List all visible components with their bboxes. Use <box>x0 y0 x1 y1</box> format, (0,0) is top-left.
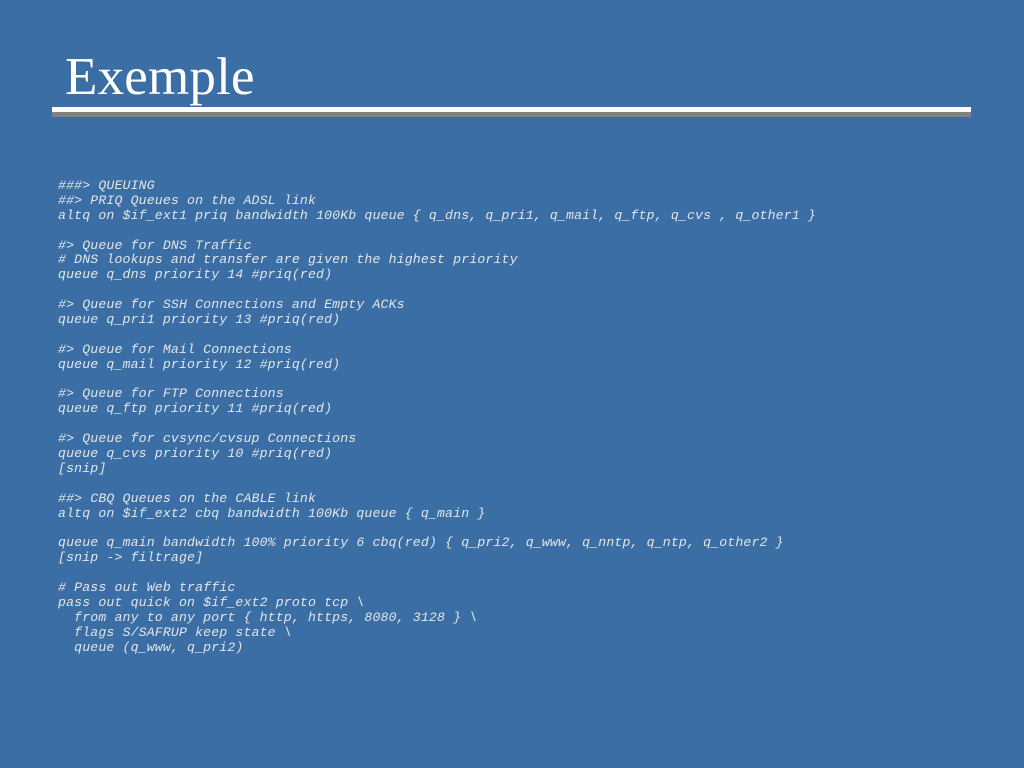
code-line: queue q_ftp priority 11 #priq(red) <box>58 402 998 417</box>
code-line: altq on $if_ext1 priq bandwidth 100Kb qu… <box>58 209 998 224</box>
code-line: queue q_main bandwidth 100% priority 6 c… <box>58 536 998 551</box>
code-line: queue q_mail priority 12 #priq(red) <box>58 358 998 373</box>
code-line: altq on $if_ext2 cbq bandwidth 100Kb que… <box>58 507 998 522</box>
code-line: #> Queue for cvsync/cvsup Connections <box>58 432 998 447</box>
code-line: pass out quick on $if_ext2 proto tcp \ <box>58 596 998 611</box>
code-line-blank <box>58 373 998 388</box>
code-line: queue q_pri1 priority 13 #priq(red) <box>58 313 998 328</box>
code-line-blank <box>58 328 998 343</box>
code-line: ##> CBQ Queues on the CABLE link <box>58 492 998 507</box>
code-line: #> Queue for FTP Connections <box>58 387 998 402</box>
code-line: # Pass out Web traffic <box>58 581 998 596</box>
code-line: ##> PRIQ Queues on the ADSL link <box>58 194 998 209</box>
code-line: #> Queue for Mail Connections <box>58 343 998 358</box>
code-line-blank <box>58 417 998 432</box>
divider-shadow-line <box>52 112 971 117</box>
title-block: Exemple <box>52 48 972 106</box>
page-title: Exemple <box>52 48 972 106</box>
code-line: flags S/SAFRUP keep state \ <box>58 626 998 641</box>
code-line: # DNS lookups and transfer are given the… <box>58 253 998 268</box>
code-line: [snip -> filtrage] <box>58 551 998 566</box>
code-line: queue q_dns priority 14 #priq(red) <box>58 268 998 283</box>
code-line: from any to any port { http, https, 8080… <box>58 611 998 626</box>
code-line-blank <box>58 477 998 492</box>
code-line-blank <box>58 566 998 581</box>
code-line: queue q_cvs priority 10 #priq(red) <box>58 447 998 462</box>
slide-canvas: Exemple ###> QUEUING##> PRIQ Queues on t… <box>0 0 1024 768</box>
code-line-blank <box>58 224 998 239</box>
code-line-blank <box>58 283 998 298</box>
code-listing: ###> QUEUING##> PRIQ Queues on the ADSL … <box>58 179 998 656</box>
code-line: [snip] <box>58 462 998 477</box>
code-line: #> Queue for DNS Traffic <box>58 239 998 254</box>
code-line: ###> QUEUING <box>58 179 998 194</box>
code-line: queue (q_www, q_pri2) <box>58 641 998 656</box>
code-line-blank <box>58 521 998 536</box>
code-line: #> Queue for SSH Connections and Empty A… <box>58 298 998 313</box>
